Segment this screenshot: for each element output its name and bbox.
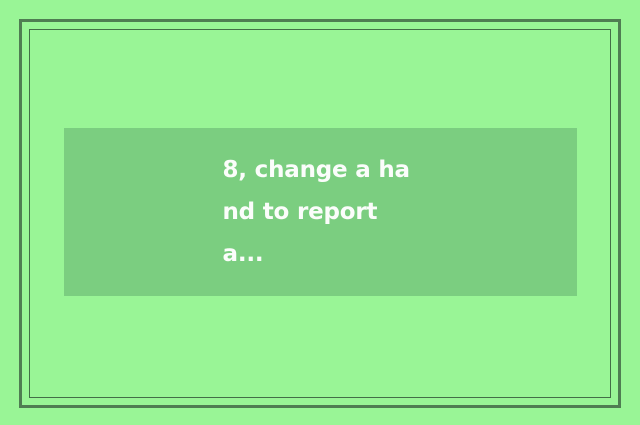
content-card: 8, change a hand to report a... [64, 128, 577, 296]
frame-interior: 8, change a hand to report a... [30, 30, 610, 397]
page-canvas: 8, change a hand to report a... [0, 0, 640, 425]
card-text: 8, change a hand to report a... [223, 149, 419, 275]
